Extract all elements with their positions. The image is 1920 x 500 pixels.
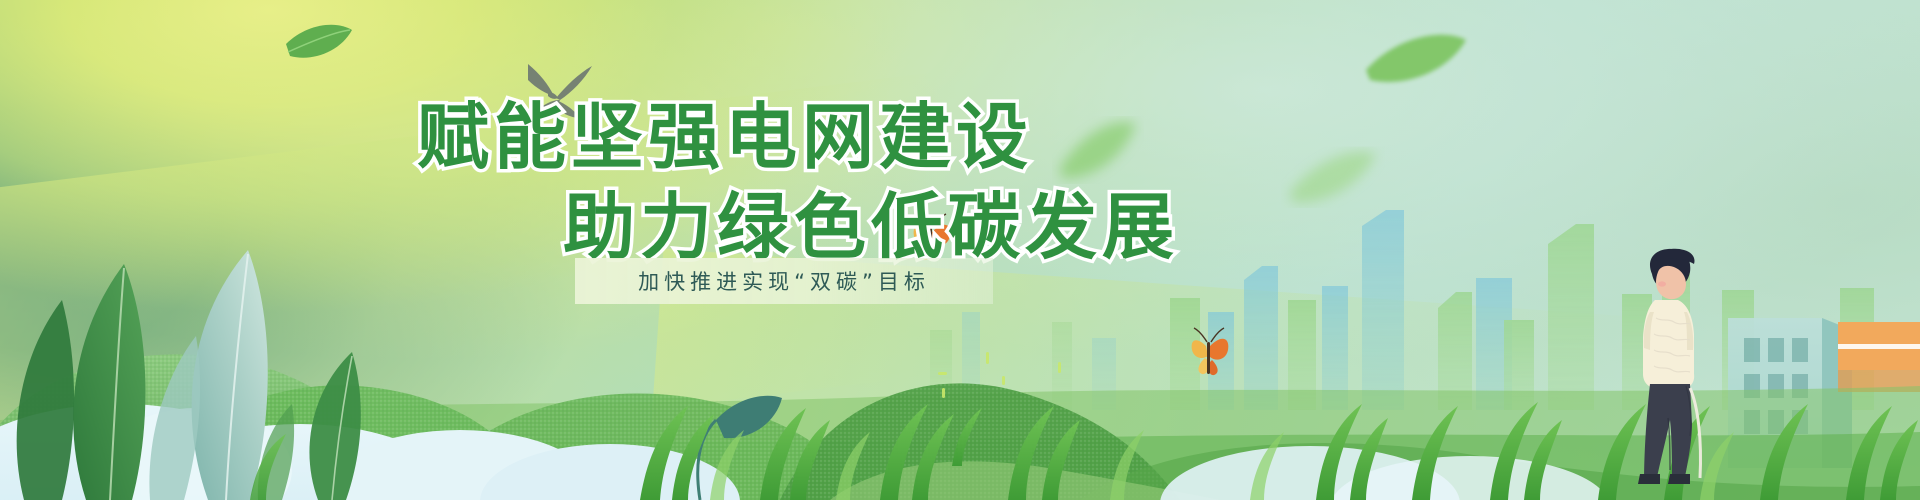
floating-leaf-left-haze xyxy=(1290,152,1376,203)
eco-power-grid-banner: 赋能坚强电网建设 赋能坚强电网建设 助力绿色低碳发展 助力绿色低碳发展 加快推进… xyxy=(0,0,1920,500)
butterfly-center-icon xyxy=(914,214,951,261)
swallow-bird-icon xyxy=(528,64,592,118)
floating-leaf-mid-right xyxy=(1060,122,1136,178)
floating-leaf-top-right xyxy=(1366,35,1466,82)
floating-leaf-top-left xyxy=(286,25,352,58)
bench-orange xyxy=(1838,322,1920,392)
city-skyline-scenery xyxy=(0,0,1920,500)
